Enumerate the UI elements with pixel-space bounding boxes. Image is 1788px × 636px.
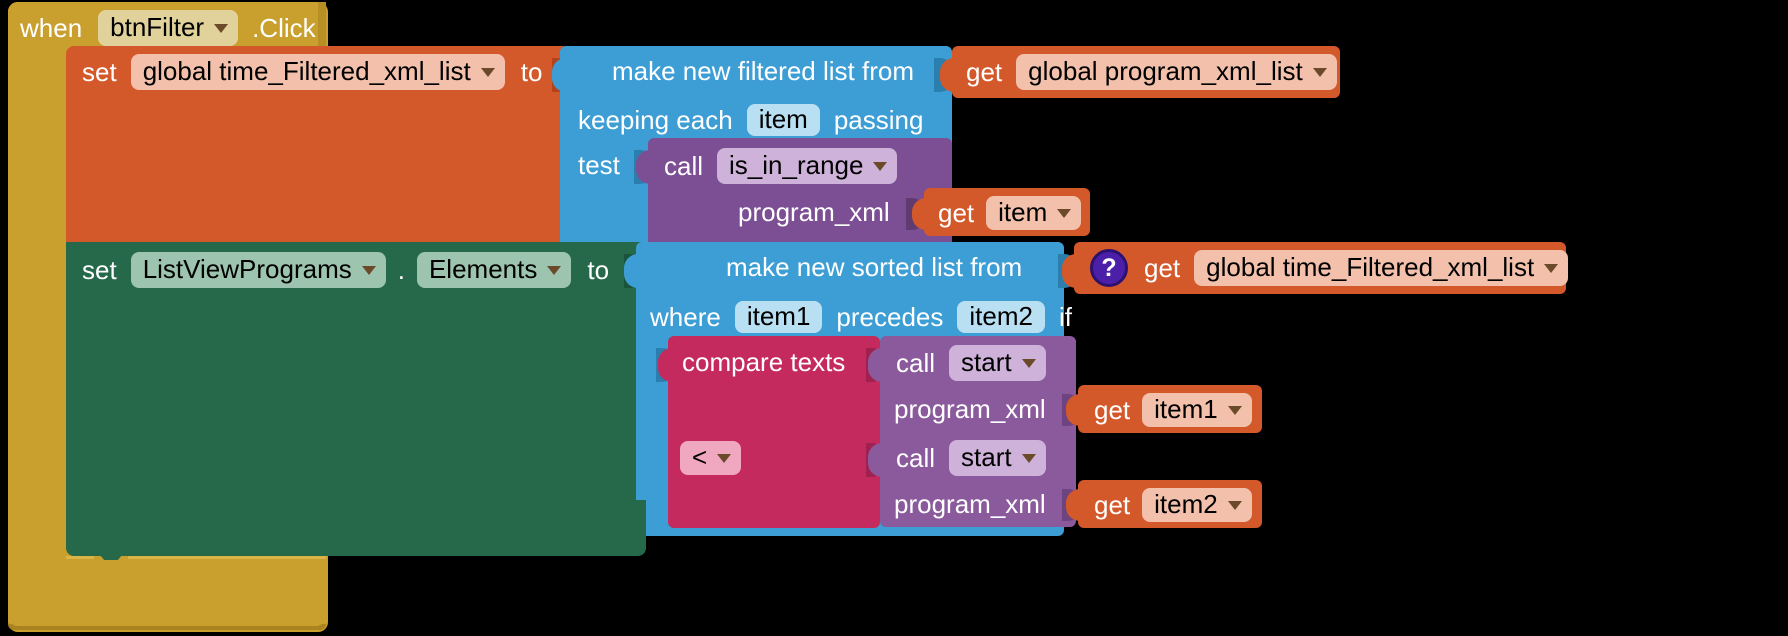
when-label: when (20, 15, 82, 41)
get-global-program-xml-list-dropdown[interactable]: global program_xml_list (1016, 54, 1337, 90)
test-label: test (578, 152, 620, 178)
where-label: where (650, 304, 721, 330)
start-procedure-dropdown-b[interactable]: start (949, 440, 1046, 476)
compare-texts-left-tab (658, 348, 674, 382)
set-listview-elements-top-notch (94, 242, 128, 252)
get-label: get (966, 59, 1002, 85)
call-start-a-arg-label: program_xml (894, 396, 1046, 422)
compare-operator-dropdown[interactable]: < (680, 441, 741, 475)
dot-separator: . (398, 257, 405, 283)
get-item-row: get item (938, 196, 1081, 230)
chevron-down-icon (717, 454, 731, 463)
call-start-a-left-tab (868, 348, 884, 382)
sort-item2-parameter-name: item2 (969, 303, 1033, 329)
if-label: if (1059, 304, 1072, 330)
passing-label: passing (834, 107, 924, 133)
listview-property-name: Elements (429, 256, 537, 282)
chevron-down-icon (214, 24, 228, 33)
chevron-down-icon (547, 266, 561, 275)
call-label: call (896, 445, 935, 471)
get-item-dropdown[interactable]: item (986, 196, 1081, 230)
get-item2-dropdown[interactable]: item2 (1142, 488, 1252, 522)
call-start-a-row: call start (896, 345, 1046, 381)
get-item-name: item (998, 199, 1047, 225)
event-component-name: btnFilter (110, 14, 204, 40)
chevron-down-icon (873, 162, 887, 171)
get-global-time-filtered-dropdown[interactable]: global time_Filtered_xml_list (1194, 250, 1568, 286)
green-block-bottom-cover (66, 500, 646, 556)
keeping-each-row: keeping each item passing (578, 104, 923, 136)
is-in-range-procedure-name: is_in_range (729, 152, 863, 178)
get-global-program-xml-list-row: get global program_xml_list (966, 54, 1337, 90)
get-time-filtered-left-tab (1062, 254, 1078, 288)
listview-component-name: ListViewPrograms (143, 256, 352, 282)
precedes-label: precedes (836, 304, 943, 330)
get-global-time-filtered-name: global time_Filtered_xml_list (1206, 254, 1534, 280)
where-precedes-row: where item1 precedes item2 if (650, 301, 1072, 333)
chevron-down-icon (1228, 406, 1242, 415)
get-item1-name: item1 (1154, 396, 1218, 422)
make-sorted-list-left-tab (624, 254, 642, 288)
chevron-down-icon (1022, 454, 1036, 463)
call-label: call (896, 350, 935, 376)
warning-question-icon[interactable]: ? (1090, 249, 1128, 287)
call-start-b-left-tab (868, 443, 884, 477)
chevron-down-icon (362, 266, 376, 275)
start-procedure-name-a: start (961, 349, 1012, 375)
filter-item-parameter[interactable]: item (747, 104, 820, 136)
chevron-down-icon (1544, 264, 1558, 273)
global-variable-dropdown[interactable]: global time_Filtered_xml_list (131, 54, 505, 90)
set-global-variable-row: set global time_Filtered_xml_list to (82, 54, 542, 90)
chevron-down-icon (1228, 501, 1242, 510)
event-block-left-spine-2 (8, 40, 66, 600)
blocks-workspace[interactable]: when btnFilter .Click do set global time… (0, 0, 1788, 636)
get-label: get (1094, 492, 1130, 518)
chevron-down-icon (1057, 209, 1071, 218)
make-filtered-list-title: make new filtered list from (612, 58, 914, 84)
keeping-each-label: keeping each (578, 107, 733, 133)
call-start-b-row: call start (896, 440, 1046, 476)
is-in-range-arg-label: program_xml (738, 199, 890, 225)
sort-item2-parameter[interactable]: item2 (957, 301, 1045, 333)
make-sorted-list-title: make new sorted list from (726, 254, 1022, 280)
chevron-down-icon (1022, 359, 1036, 368)
to-label: to (587, 257, 609, 283)
get-label: get (938, 200, 974, 226)
get-global-time-filtered-row: ? get global time_Filtered_xml_list (1090, 249, 1568, 287)
to-label: to (521, 59, 543, 85)
chevron-down-icon (481, 68, 495, 77)
set-label: set (82, 257, 117, 283)
get-item2-name: item2 (1154, 491, 1218, 517)
set-listview-elements-row: set ListViewPrograms . Elements to (82, 252, 609, 288)
event-name-label: .Click (252, 15, 316, 41)
get-label: get (1144, 255, 1180, 281)
listview-component-dropdown[interactable]: ListViewPrograms (131, 252, 386, 288)
listview-property-dropdown[interactable]: Elements (417, 252, 571, 288)
global-variable-name: global time_Filtered_xml_list (143, 58, 471, 84)
set-label: set (82, 59, 117, 85)
compare-texts-title: compare texts (682, 349, 845, 375)
compare-operator-value: < (692, 444, 707, 470)
call-is-in-range-row: call is_in_range (664, 148, 897, 184)
start-procedure-dropdown-a[interactable]: start (949, 345, 1046, 381)
sort-item1-parameter-name: item1 (747, 303, 811, 329)
get-item1-row: get item1 (1094, 393, 1252, 427)
get-program-xml-list-left-tab (940, 58, 956, 92)
call-start-b-arg-label: program_xml (894, 491, 1046, 517)
call-label: call (664, 153, 703, 179)
start-procedure-name-b: start (961, 444, 1012, 470)
filter-item-parameter-name: item (759, 106, 808, 132)
make-filtered-list-left-tab (552, 58, 570, 92)
get-label: get (1094, 397, 1130, 423)
get-item1-dropdown[interactable]: item1 (1142, 393, 1252, 427)
get-global-program-xml-list-name: global program_xml_list (1028, 58, 1303, 84)
event-component-dropdown[interactable]: btnFilter (98, 10, 238, 46)
sort-item1-parameter[interactable]: item1 (735, 301, 823, 333)
get-item2-row: get item2 (1094, 488, 1252, 522)
chevron-down-icon (1313, 68, 1327, 77)
event-block-right-shade (318, 2, 326, 52)
call-is-in-range-left-tab (636, 150, 652, 184)
is-in-range-procedure-dropdown[interactable]: is_in_range (717, 148, 897, 184)
